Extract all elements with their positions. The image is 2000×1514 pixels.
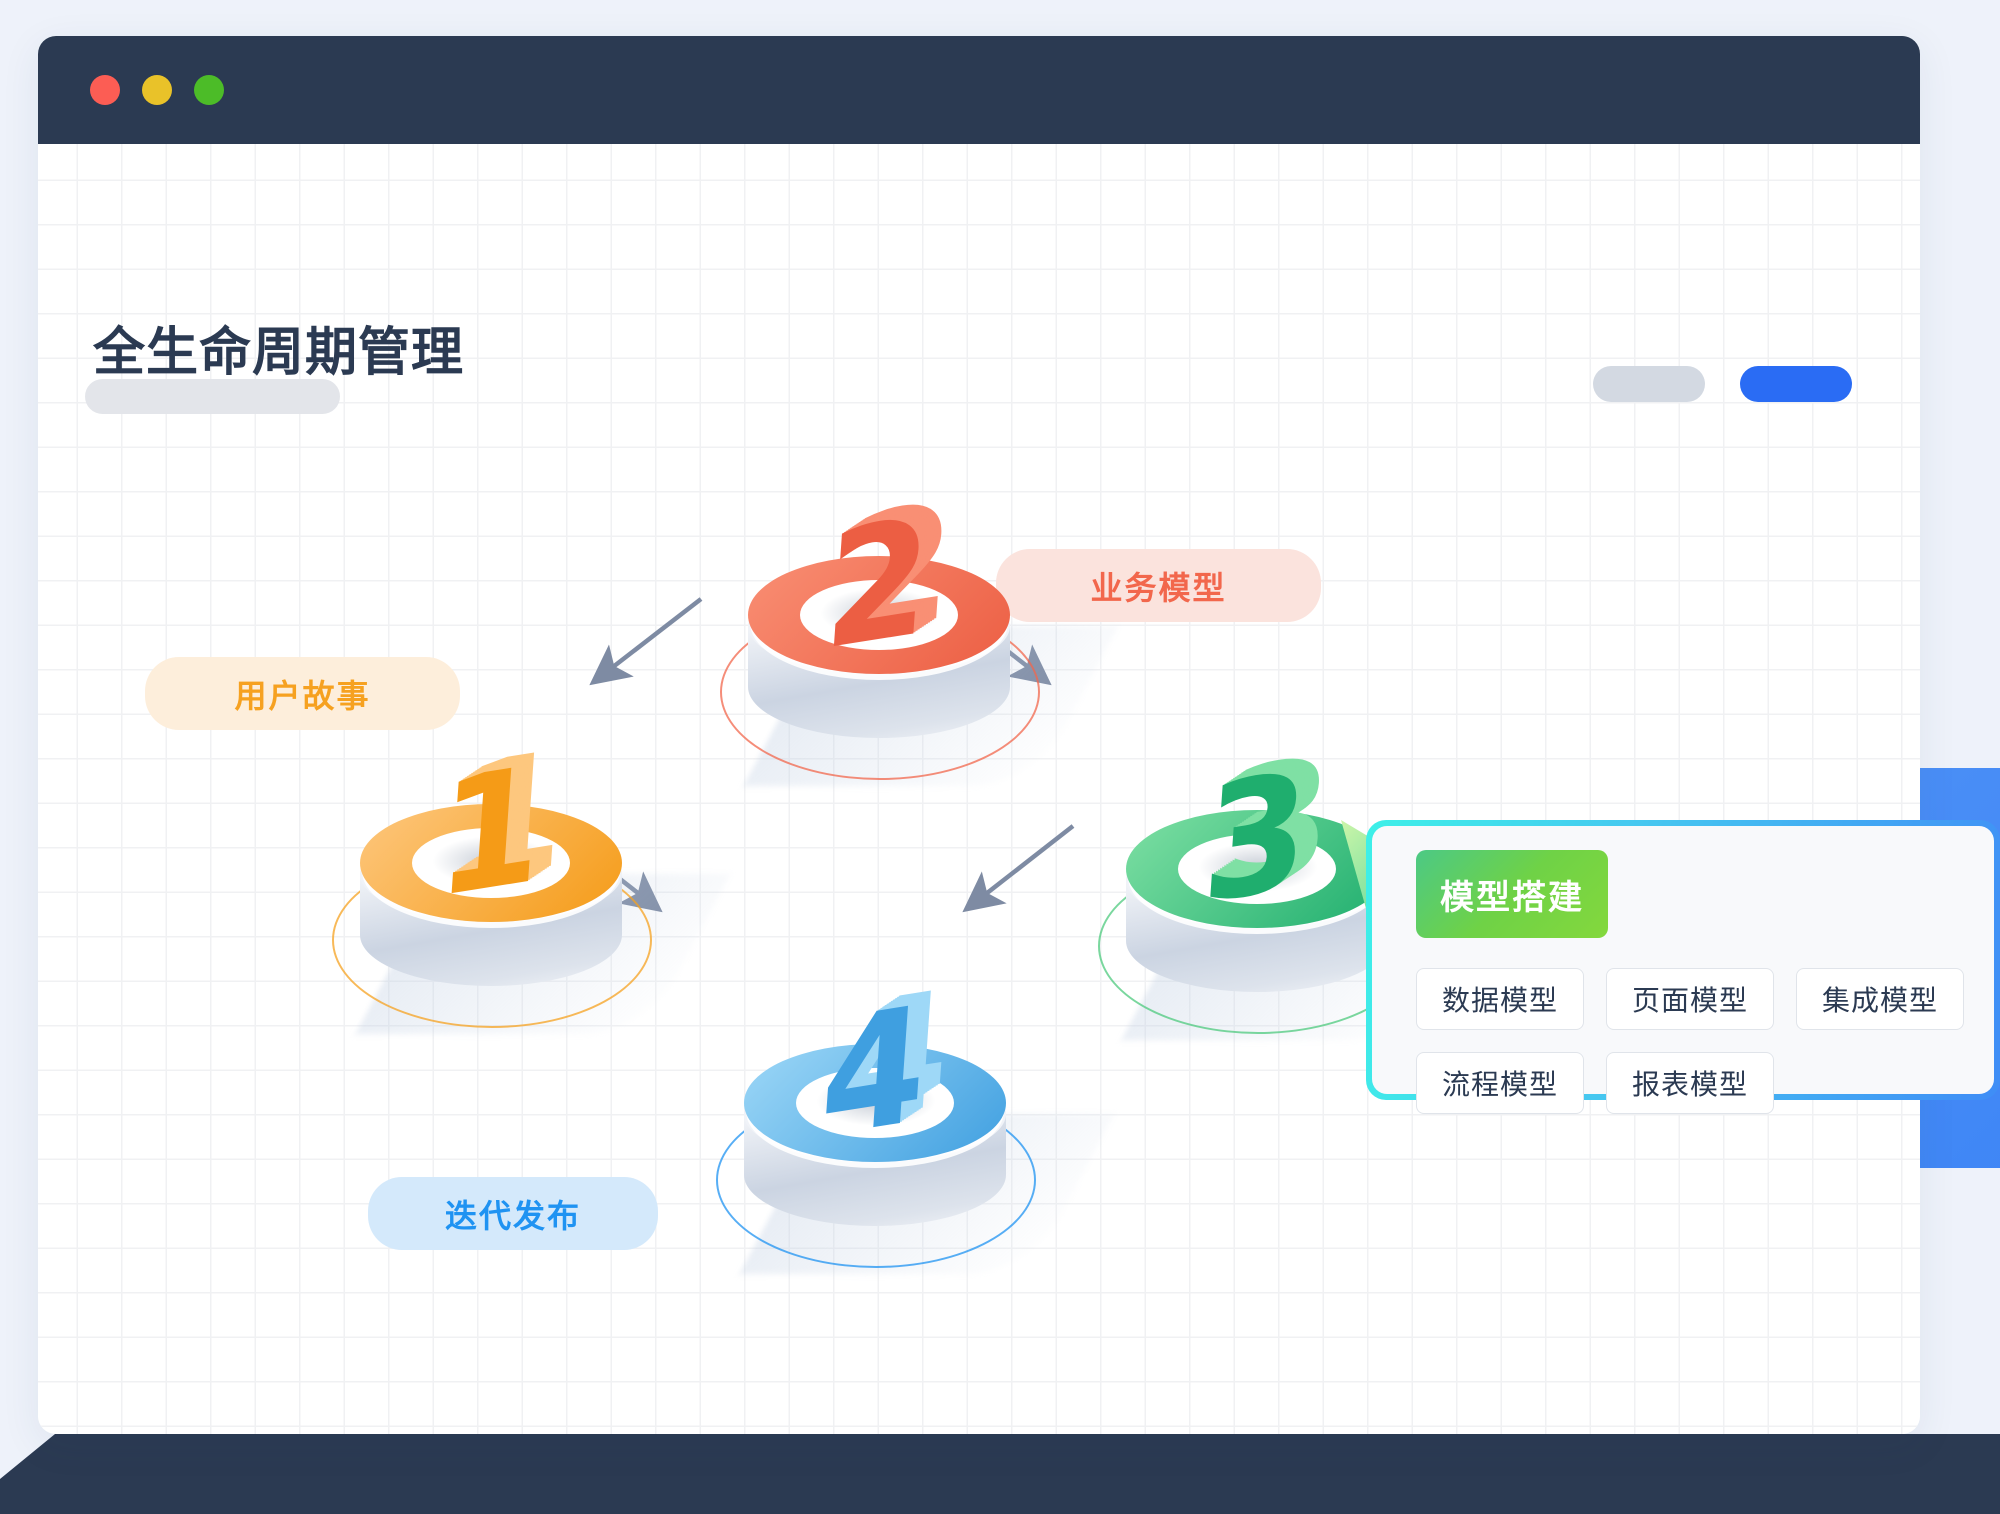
primary-pill-button[interactable] xyxy=(1740,366,1852,402)
model-button-page[interactable]: 页面模型 xyxy=(1606,968,1774,1030)
maximize-dot[interactable] xyxy=(194,75,224,105)
chip-business-model[interactable]: 业务模型 xyxy=(996,549,1321,622)
close-dot[interactable] xyxy=(90,75,120,105)
podium-step-4[interactable]: 4 xyxy=(724,1004,1024,1304)
diagram-canvas: 全生命周期管理 用户故事 业务模型 迭代发布 xyxy=(38,144,1920,1434)
model-button-process[interactable]: 流程模型 xyxy=(1416,1052,1584,1114)
model-button-report[interactable]: 报表模型 xyxy=(1606,1052,1774,1114)
page-title: 全生命周期管理 xyxy=(93,327,464,379)
podium-step-1[interactable]: 1 xyxy=(340,764,640,1064)
popup-badge-model-build: 模型搭建 xyxy=(1416,850,1608,938)
minimize-dot[interactable] xyxy=(142,75,172,105)
popup-gradient-border: 模型搭建 数据模型 页面模型 集成模型 流程模型 报表模型 xyxy=(1366,820,2000,1100)
window-stand-base xyxy=(0,1434,2000,1514)
browser-window: 全生命周期管理 用户故事 业务模型 迭代发布 xyxy=(38,36,1920,1434)
window-titlebar xyxy=(38,36,1920,144)
chip-iteration-release[interactable]: 迭代发布 xyxy=(368,1177,658,1250)
chip-user-story[interactable]: 用户故事 xyxy=(145,657,460,730)
popup-content: 模型搭建 数据模型 页面模型 集成模型 流程模型 报表模型 xyxy=(1372,826,1994,1094)
secondary-pill-button[interactable] xyxy=(1593,366,1705,402)
model-type-grid: 数据模型 页面模型 集成模型 流程模型 报表模型 xyxy=(1416,968,1976,1114)
header-actions xyxy=(1593,366,1852,402)
podium-step-2[interactable]: 2 xyxy=(728,516,1028,816)
title-highlight-bar xyxy=(85,379,340,414)
arrow-2-to-1 xyxy=(600,599,701,677)
page-title-group: 全生命周期管理 xyxy=(93,327,464,379)
arrow-3-to-4 xyxy=(973,826,1073,904)
model-button-data[interactable]: 数据模型 xyxy=(1416,968,1584,1030)
model-build-popup: 模型搭建 数据模型 页面模型 集成模型 流程模型 报表模型 xyxy=(1366,820,2000,1100)
window-controls xyxy=(90,75,224,105)
model-button-integration[interactable]: 集成模型 xyxy=(1796,968,1964,1030)
